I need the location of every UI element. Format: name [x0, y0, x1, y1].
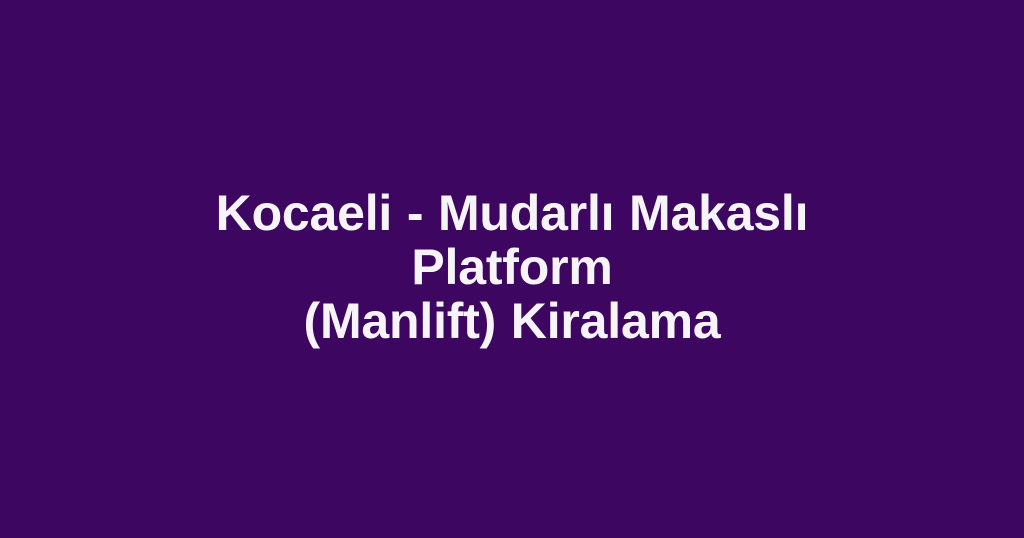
banner-content: Kocaeli - Mudarlı Makaslı Platform (Manl…: [117, 186, 907, 348]
page-title: Kocaeli - Mudarlı Makaslı Platform (Manl…: [117, 186, 907, 348]
banner-container: Kocaeli - Mudarlı Makaslı Platform (Manl…: [0, 0, 1024, 538]
